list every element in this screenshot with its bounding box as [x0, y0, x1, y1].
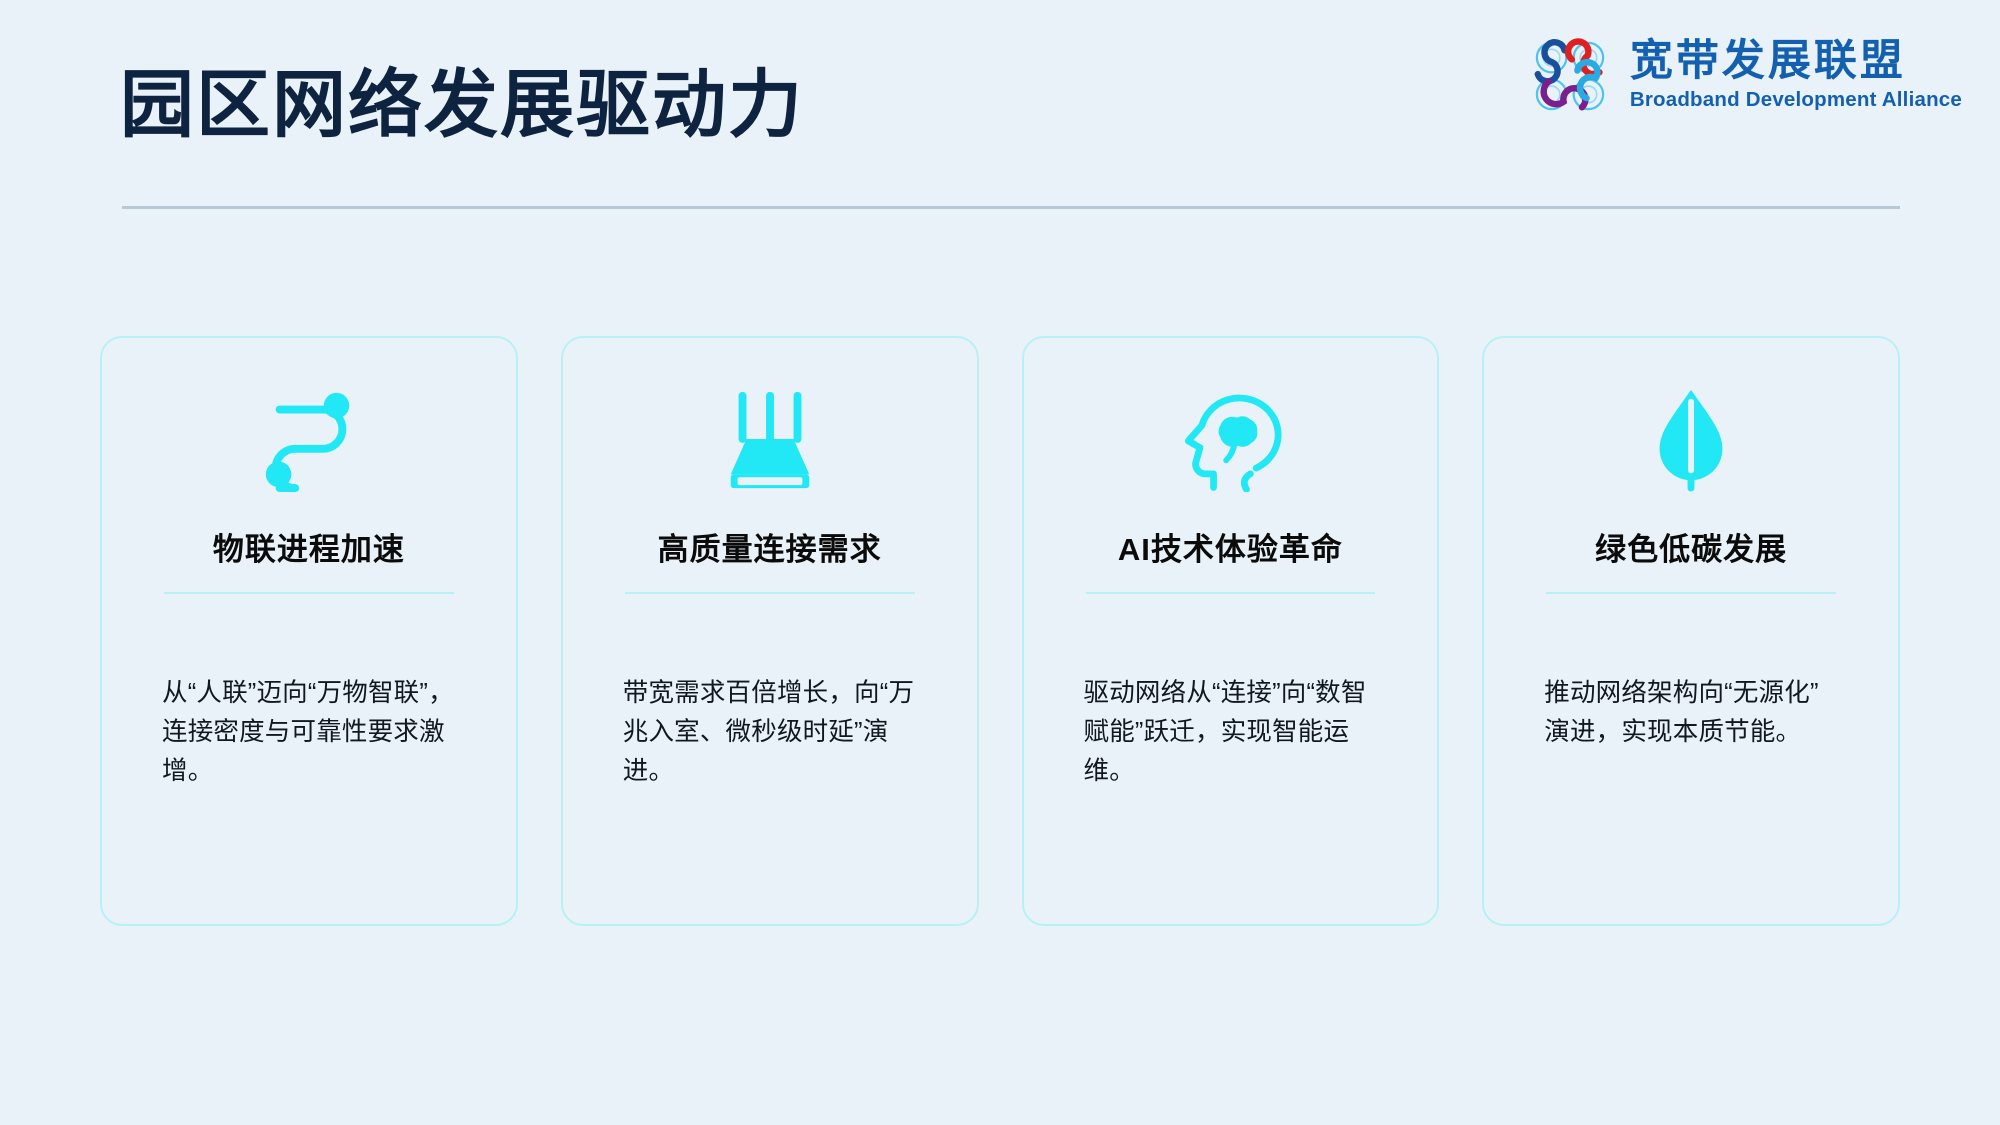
wifi-router-icon [711, 384, 829, 492]
logo-name-en: Broadband Development Alliance [1630, 88, 1962, 113]
card-title-divider [1086, 592, 1376, 594]
logo-name-cn: 宽带发展联盟 [1630, 39, 1962, 84]
driver-card[interactable]: 绿色低碳发展 推动网络架构向“无源化”演进，实现本质节能。 [1482, 336, 1900, 926]
broadband-alliance-emblem-icon [1524, 30, 1616, 122]
card-title-divider [164, 592, 454, 594]
title-divider [122, 206, 1900, 209]
driver-card-grid: 物联进程加速 从“人联”迈向“万物智联”，连接密度与可靠性要求激增。 高质量连 [100, 336, 1900, 926]
card-body-text: 推动网络架构向“无源化”演进，实现本质节能。 [1544, 674, 1838, 752]
iot-s-curve-nodes-icon [250, 384, 368, 492]
green-leaf-icon [1641, 384, 1741, 492]
card-title: 物联进程加速 [213, 524, 405, 569]
ai-head-brain-icon [1167, 384, 1293, 492]
card-body-text: 驱动网络从“连接”向“数智赋能”跃迁，实现智能运维。 [1084, 674, 1378, 790]
driver-card[interactable]: AI技术体验革命 驱动网络从“连接”向“数智赋能”跃迁，实现智能运维。 [1022, 336, 1440, 926]
driver-card[interactable]: 高质量连接需求 带宽需求百倍增长，向“万兆入室、微秒级时延”演进。 [561, 336, 979, 926]
slide-root: 园区网络发展驱动力 [0, 0, 2000, 1125]
card-title-divider [625, 592, 915, 594]
card-body-text: 从“人联”迈向“万物智联”，连接密度与可靠性要求激增。 [162, 674, 456, 790]
card-title-divider [1546, 592, 1836, 594]
card-body-text: 带宽需求百倍增长，向“万兆入室、微秒级时延”演进。 [623, 674, 917, 790]
card-title: 绿色低碳发展 [1595, 524, 1787, 569]
brand-logo: 宽带发展联盟 Broadband Development Alliance [1524, 30, 1962, 122]
page-title: 园区网络发展驱动力 [120, 62, 804, 147]
card-title: AI技术体验革命 [1118, 524, 1343, 569]
slide-header: 园区网络发展驱动力 [0, 0, 2000, 230]
driver-card[interactable]: 物联进程加速 从“人联”迈向“万物智联”，连接密度与可靠性要求激增。 [100, 336, 518, 926]
card-title: 高质量连接需求 [658, 524, 882, 569]
